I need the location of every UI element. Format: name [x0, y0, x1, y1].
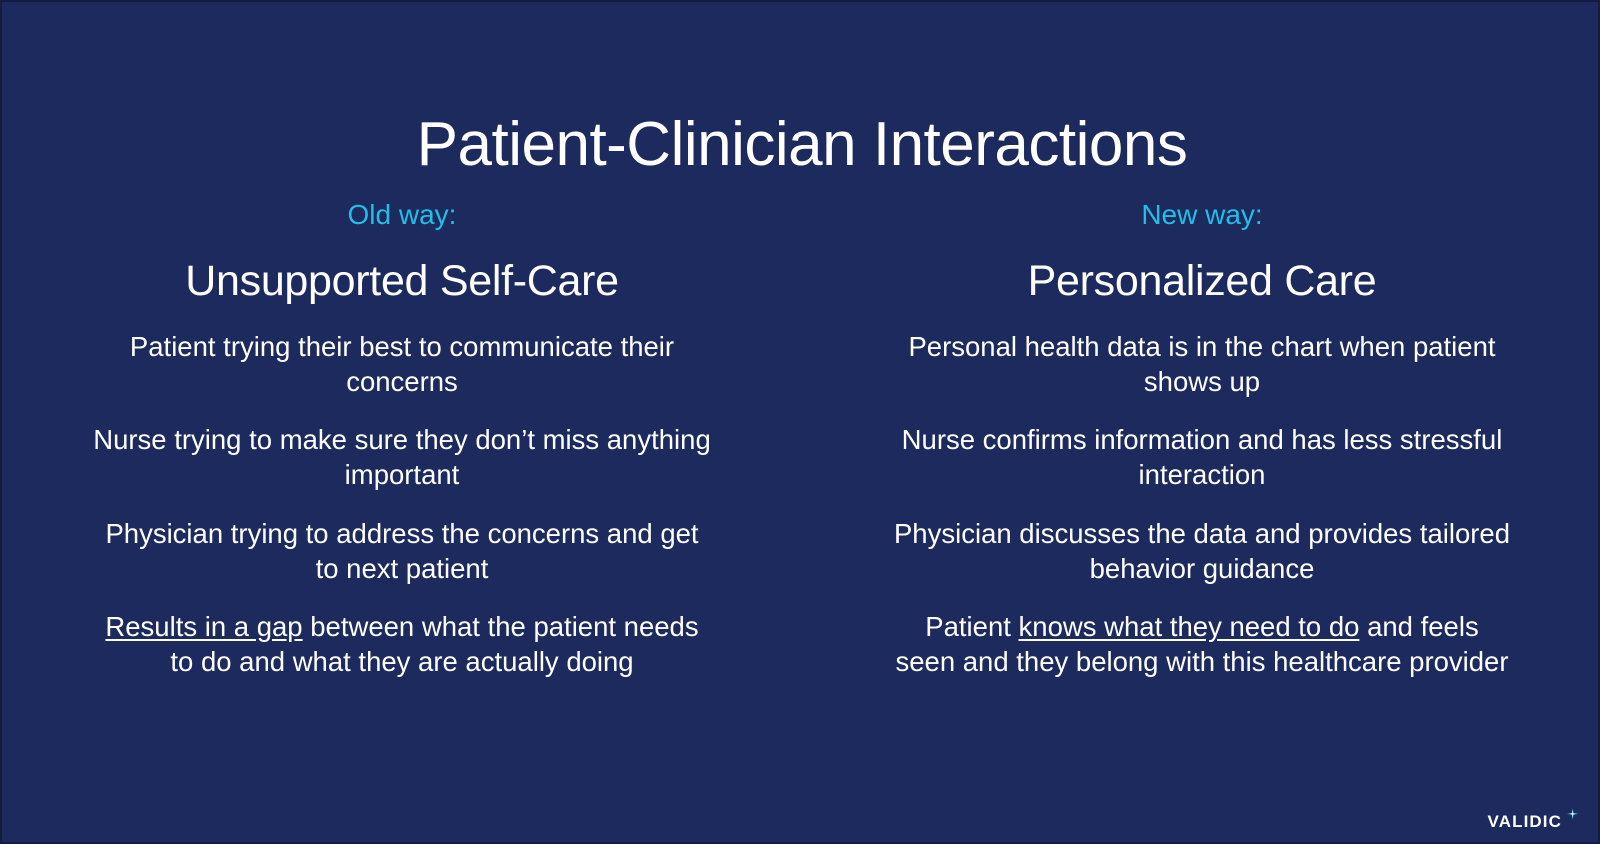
- plain-text: Patient trying their best to communicate…: [130, 331, 674, 397]
- list-item: Results in a gap between what the patien…: [92, 609, 712, 679]
- list-item: Nurse trying to make sure they don’t mis…: [92, 422, 712, 492]
- list-item: Physician trying to address the concerns…: [92, 516, 712, 586]
- list-item: Nurse confirms information and has less …: [892, 422, 1512, 492]
- page-title: Patient-Clinician Interactions: [2, 112, 1600, 177]
- emphasis-underlined-text: Results in a gap: [105, 611, 302, 642]
- slide-canvas: Patient-Clinician Interactions Old way: …: [0, 0, 1600, 844]
- column-heading-new: Personalized Care: [1028, 258, 1377, 305]
- list-item: Physician discusses the data and provide…: [892, 516, 1512, 586]
- plain-text: Patient: [925, 611, 1018, 642]
- plain-text: Nurse confirms information and has less …: [902, 424, 1503, 490]
- column-heading-old: Unsupported Self-Care: [185, 258, 619, 305]
- plain-text: Personal health data is in the chart whe…: [908, 331, 1495, 397]
- plain-text: Physician discusses the data and provide…: [894, 518, 1510, 584]
- plus-star-icon: [1564, 807, 1580, 828]
- column-tag-new: New way:: [1141, 198, 1262, 232]
- points-list-old: Patient trying their best to communicate…: [32, 329, 772, 680]
- validic-logo: VALIDIC: [1488, 807, 1580, 830]
- list-item: Patient knows what they need to do and f…: [892, 609, 1512, 679]
- column-old-way: Old way: Unsupported Self-Care Patient t…: [2, 198, 802, 679]
- plain-text: Nurse trying to make sure they don’t mis…: [93, 424, 711, 490]
- list-item: Personal health data is in the chart whe…: [892, 329, 1512, 399]
- comparison-columns: Old way: Unsupported Self-Care Patient t…: [2, 198, 1600, 679]
- column-tag-old: Old way:: [348, 198, 457, 232]
- plain-text: Physician trying to address the concerns…: [105, 518, 698, 584]
- points-list-new: Personal health data is in the chart whe…: [832, 329, 1572, 680]
- column-new-way: New way: Personalized Care Personal heal…: [802, 198, 1600, 679]
- emphasis-underlined-text: knows what they need to do: [1019, 611, 1360, 642]
- list-item: Patient trying their best to communicate…: [92, 329, 712, 399]
- logo-wordmark: VALIDIC: [1488, 813, 1562, 830]
